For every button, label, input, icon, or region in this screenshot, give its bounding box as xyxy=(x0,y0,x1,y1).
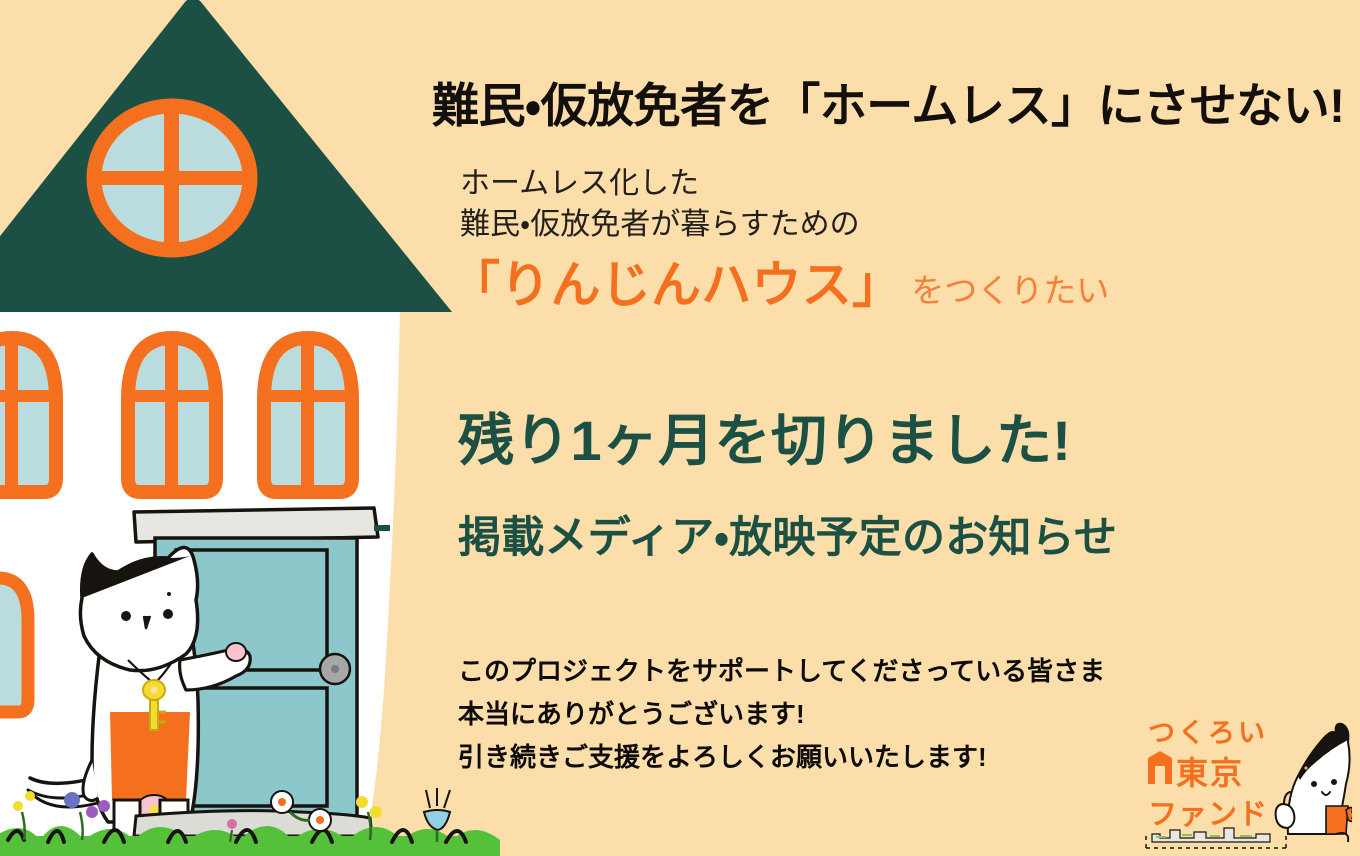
house-wall xyxy=(0,305,400,840)
window-center xyxy=(128,338,216,492)
thanks-line-3: 引き続きご支援をよろしくお願いいたします! xyxy=(458,736,1105,779)
house-with-cat-illustration xyxy=(0,0,500,856)
house-name: 「りんじんハウス」 xyxy=(450,260,902,310)
logo-line-2: 東京 xyxy=(1176,755,1244,791)
page-title: 難民・仮放免者を「ホームレス」にさせない! xyxy=(432,80,1344,133)
house-name-row: 「りんじんハウス」 をつくりたい xyxy=(450,260,1109,310)
front-door xyxy=(155,538,357,820)
announcement-sub: 掲載メディア・放映予定のお知らせ xyxy=(458,515,1117,562)
attic-round-window xyxy=(94,106,250,250)
subhead-line-1: ホームレス化した xyxy=(460,163,860,204)
poster-canvas: 難民・仮放免者を「ホームレス」にさせない! ホームレス化した 難民・仮放免者が暮… xyxy=(0,0,1360,856)
logo-line-1: つくろい xyxy=(1148,718,1268,748)
window-left xyxy=(0,338,58,492)
thanks-line-2: 本当にありがとうございます! xyxy=(458,693,1105,736)
logo-line-3: ファンド xyxy=(1148,799,1268,831)
house-name-tail: をつくりたい xyxy=(911,274,1109,307)
house-glyph-icon xyxy=(1148,751,1172,784)
door-knob xyxy=(320,654,350,684)
announcement-main: 残り1ヶ月を切りました! xyxy=(458,410,1071,472)
organization-logo: つくろい 東京 ファンド xyxy=(1136,706,1352,856)
door-lintel xyxy=(134,508,390,542)
window-right xyxy=(264,338,352,492)
thanks-block: このプロジェクトをサポートしてくださっている皆さま 本当にありがとうございます!… xyxy=(458,650,1105,779)
window-lower-left xyxy=(0,578,28,712)
cat-with-key xyxy=(28,547,250,848)
grass-and-flowers xyxy=(0,788,500,856)
cat-mascot xyxy=(1276,724,1352,842)
subhead-block: ホームレス化した 難民・仮放免者が暮らすための xyxy=(460,163,860,246)
skyline-base xyxy=(1146,828,1286,848)
roof-triangle xyxy=(0,0,452,312)
subhead-line-2: 難民・仮放免者が暮らすための xyxy=(460,204,860,245)
thanks-line-1: このプロジェクトをサポートしてくださっている皆さま xyxy=(458,650,1105,693)
stone-step xyxy=(134,811,372,836)
